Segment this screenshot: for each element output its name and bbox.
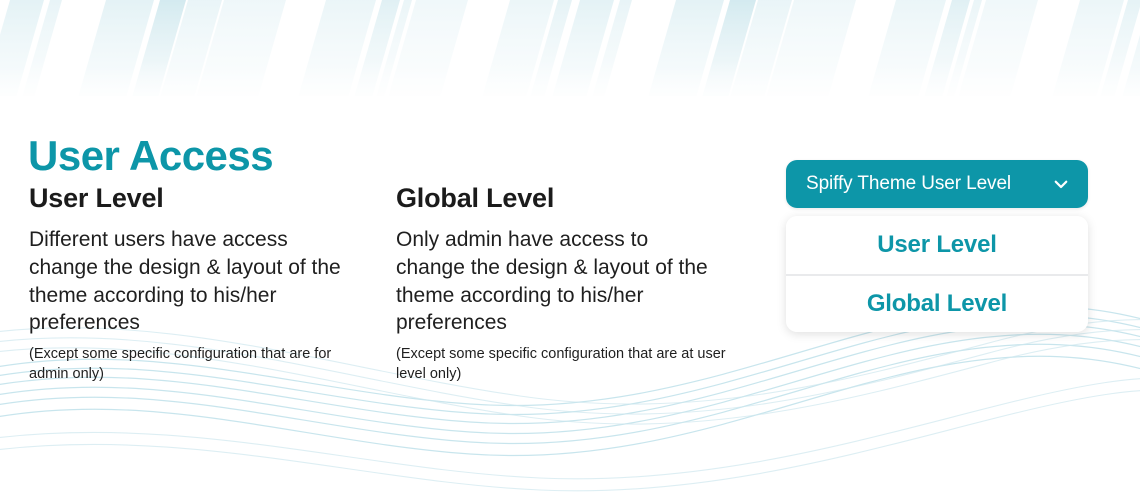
dropdown-option-global-level[interactable]: Global Level <box>786 274 1088 332</box>
dropdown-selected-label: Spiffy Theme User Level <box>806 173 1011 195</box>
column-note-text: (Except some specific configuration that… <box>396 345 726 384</box>
column-user-level: User Level Different users have access c… <box>29 184 369 384</box>
column-body-text: Only admin have access to change the des… <box>396 226 716 338</box>
dropdown-menu: User Level Global Level <box>786 216 1088 332</box>
column-global-level: Global Level Only admin have access to c… <box>396 184 736 384</box>
user-level-dropdown: Spiffy Theme User Level User Level Globa… <box>786 160 1088 208</box>
slide-content: User Access User Level Different users h… <box>0 0 1140 500</box>
dropdown-option-user-level[interactable]: User Level <box>786 216 1088 274</box>
column-heading: User Level <box>29 184 369 214</box>
column-body-text: Different users have access change the d… <box>29 226 349 338</box>
page-title: User Access <box>28 134 273 178</box>
column-note-text: (Except some specific configuration that… <box>29 345 359 384</box>
column-heading: Global Level <box>396 184 736 214</box>
slide-canvas: User Access User Level Different users h… <box>0 0 1140 500</box>
dropdown-toggle-button[interactable]: Spiffy Theme User Level <box>786 160 1088 208</box>
chevron-down-icon <box>1052 175 1070 193</box>
